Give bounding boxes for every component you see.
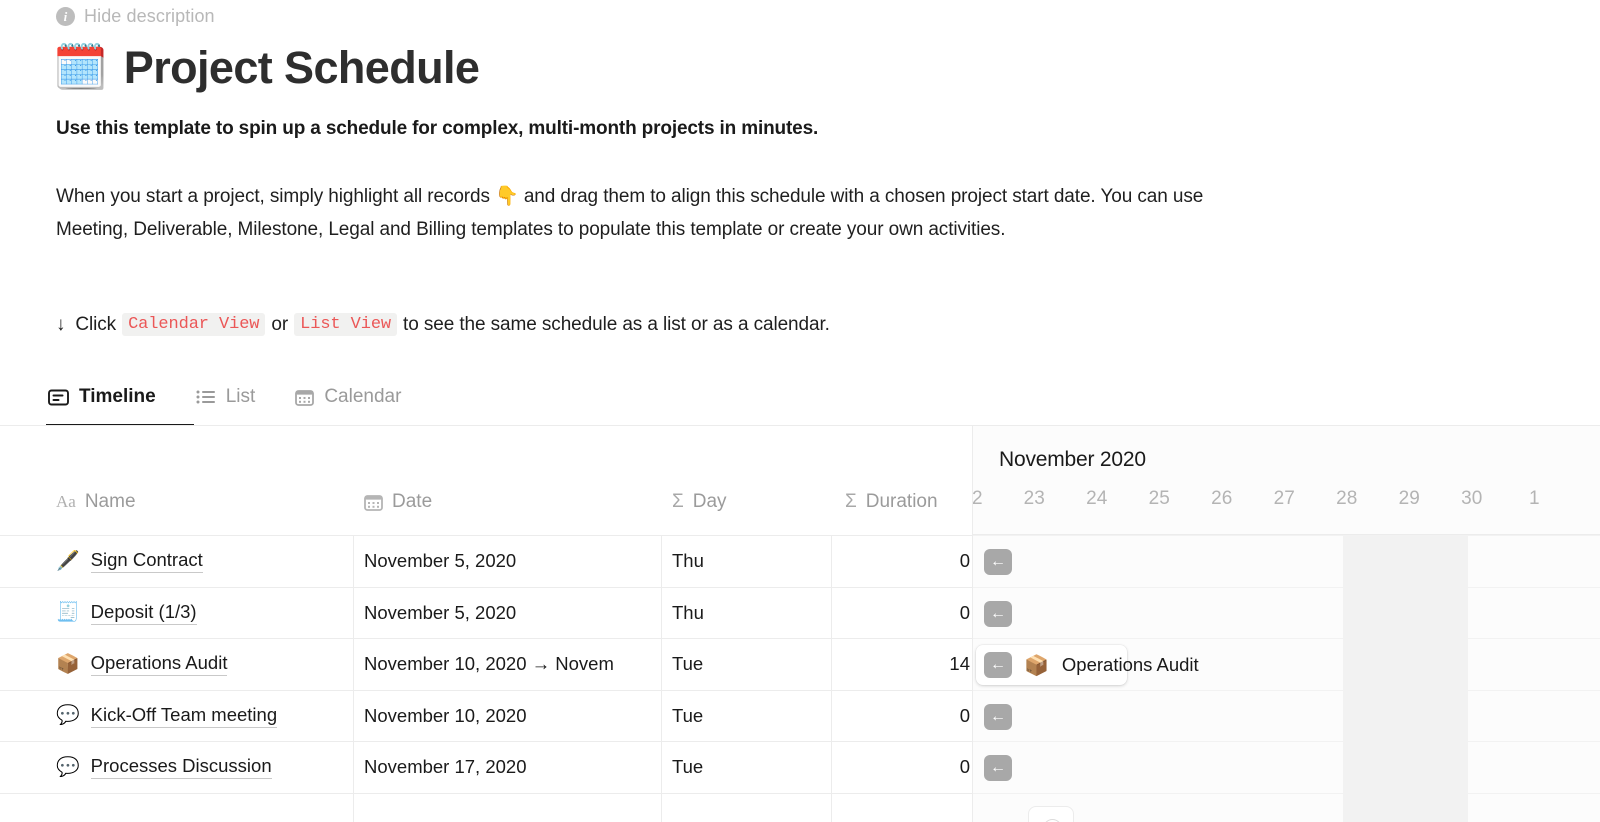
row-duration-cell: 0 [845, 691, 970, 742]
row-name-label: Deposit (1/3) [91, 601, 197, 625]
row-date-cell[interactable]: November 5, 2020 [364, 588, 659, 639]
row-date-label: November 5, 2020 [364, 550, 516, 572]
package-emoji-icon: 📦 [1024, 653, 1049, 678]
row-date-label: November 10, 2020 [364, 705, 527, 727]
row-day-cell: Thu [672, 536, 812, 587]
hide-description-button[interactable]: i Hide description [56, 6, 215, 27]
scroll-to-record-left-icon[interactable]: ← [984, 652, 1012, 678]
row-date-cell[interactable]: November 10, 2020 [364, 691, 659, 742]
list-icon [196, 389, 216, 405]
info-icon: i [56, 7, 75, 26]
timeline-day-tick: 1 [1503, 488, 1566, 510]
row-date-label: November 10, 2020 → Novem [364, 653, 614, 675]
timeline-day-tick: 28 [1316, 488, 1379, 510]
tab-timeline-label: Timeline [79, 386, 156, 408]
click-prefix-label: Click [75, 314, 116, 336]
column-header-name-label: Name [85, 491, 136, 513]
row-duration-label: 0 [960, 550, 970, 572]
timeline-row[interactable]: ← [973, 535, 1600, 587]
table-panel: Aa Name Date [0, 426, 972, 822]
row-day-cell: Tue [672, 742, 812, 793]
timeline-day-tick: 29 [1378, 488, 1441, 510]
timeline-month-label: November 2020 [999, 448, 1146, 472]
column-divider-date-day [661, 535, 662, 822]
column-header-duration-label: Duration [866, 491, 938, 513]
or-label: or [271, 314, 288, 336]
view-tabs: Timeline List [46, 382, 403, 422]
arrow-down-icon: ↓ [56, 314, 65, 336]
row-name-cell[interactable]: 📦 Operations Audit [56, 639, 346, 690]
timeline-row-partial[interactable] [973, 793, 1600, 822]
timeline-day-tick: 30 [1441, 488, 1504, 510]
project-schedule-page: i Hide description 🗓️ Project Schedule U… [0, 0, 1600, 822]
gantt-bar-partial[interactable] [1028, 806, 1074, 822]
tab-calendar-label: Calendar [324, 386, 401, 408]
table-header-row: Aa Name Date [0, 426, 972, 535]
tab-list-label: List [226, 386, 256, 408]
page-description-paragraph: When you start a project, simply highlig… [56, 180, 1266, 246]
sigma-formula-icon: Σ [672, 491, 684, 513]
timeline-day-tick: 26 [1191, 488, 1254, 510]
calendar-icon [364, 494, 383, 511]
timeline-icon [48, 389, 69, 406]
row-day-cell: Thu [672, 588, 812, 639]
row-date-cell[interactable]: November 17, 2020 [364, 742, 659, 793]
tab-list[interactable]: List [194, 382, 258, 422]
scroll-to-record-left-icon[interactable]: ← [984, 755, 1012, 781]
page-title-row: 🗓️ Project Schedule [53, 42, 479, 94]
row-name-label: Kick-Off Team meeting [91, 704, 277, 728]
column-header-date[interactable]: Date [364, 491, 432, 513]
table-row[interactable]: 📦 Operations Audit November 10, 2020 → N… [0, 638, 972, 690]
timeline-row[interactable]: ← [973, 690, 1600, 742]
table-row[interactable]: 🖋️ Sign Contract November 5, 2020 Thu 0 [0, 535, 972, 587]
column-divider-day-duration [831, 535, 832, 822]
row-duration-label: 0 [960, 705, 970, 727]
calendar-icon [295, 389, 314, 406]
row-duration-cell: 0 [845, 742, 970, 793]
row-date-label: November 17, 2020 [364, 756, 527, 778]
row-date-cell[interactable]: November 5, 2020 [364, 536, 659, 587]
speech-balloon-emoji-icon: 💬 [56, 758, 80, 777]
package-emoji-icon: 📦 [56, 655, 80, 674]
column-header-duration[interactable]: Σ Duration [845, 491, 938, 513]
column-header-name[interactable]: Aa Name [56, 491, 136, 513]
aa-text-icon: Aa [56, 492, 76, 512]
scroll-to-record-left-icon[interactable]: ← [984, 704, 1012, 730]
column-header-day-label: Day [693, 491, 727, 513]
row-duration-label: 0 [960, 756, 970, 778]
timeline-panel: November 2020 2 23 24 25 26 27 28 29 30 … [972, 426, 1600, 822]
timeline-day-tick: 24 [1066, 488, 1129, 510]
timeline-day-tick: 25 [1128, 488, 1191, 510]
record-dot-icon [1043, 819, 1062, 822]
list-view-code-chip[interactable]: List View [294, 313, 397, 336]
row-day-label: Thu [672, 550, 704, 572]
scroll-to-record-left-icon[interactable]: ← [984, 601, 1012, 627]
row-day-cell: Tue [672, 691, 812, 742]
row-day-label: Tue [672, 756, 703, 778]
hide-description-label: Hide description [84, 6, 215, 27]
click-suffix-label: to see the same schedule as a list or as… [403, 314, 830, 336]
calendar-view-code-chip[interactable]: Calendar View [122, 313, 265, 336]
row-duration-cell: 0 [845, 536, 970, 587]
column-header-day[interactable]: Σ Day [672, 491, 727, 513]
row-date-label: November 5, 2020 [364, 602, 516, 624]
row-day-label: Thu [672, 602, 704, 624]
gantt-bar-operations-audit[interactable]: ← 📦 Operations Audit [976, 645, 1127, 685]
page-title: Project Schedule [124, 42, 480, 94]
tab-calendar[interactable]: Calendar [293, 382, 403, 422]
row-name-cell[interactable]: 💬 Kick-Off Team meeting [56, 691, 346, 742]
timeline-row[interactable]: ← 📦 Operations Audit [973, 638, 1600, 690]
page-subtitle: Use this template to spin up a schedule … [56, 118, 818, 140]
row-name-cell[interactable]: 🖋️ Sign Contract [56, 536, 346, 587]
row-duration-label: 14 [949, 653, 970, 675]
timeline-day-ticks: 2 23 24 25 26 27 28 29 30 1 [973, 488, 1600, 535]
speech-balloon-emoji-icon: 💬 [56, 706, 80, 725]
view-hint-line: ↓ Click Calendar View or List View to se… [56, 313, 830, 336]
scroll-to-record-left-icon[interactable]: ← [984, 549, 1012, 575]
timeline-row[interactable]: ← [973, 741, 1600, 793]
schedule-grid: Aa Name Date [0, 426, 1600, 822]
table-row[interactable]: 💬 Processes Discussion November 17, 2020… [0, 741, 972, 793]
column-header-date-label: Date [392, 491, 432, 513]
calendar-pad-emoji-icon: 🗓️ [53, 46, 108, 90]
receipt-emoji-icon: 🧾 [56, 603, 80, 622]
timeline-day-tick: 23 [1003, 488, 1066, 510]
timeline-body: ← ← ← 📦 Operations Audit ← ← [973, 535, 1600, 822]
row-day-cell: Tue [672, 639, 812, 690]
row-name-label: Processes Discussion [91, 755, 272, 779]
timeline-row[interactable]: ← [973, 587, 1600, 639]
row-duration-label: 0 [960, 602, 970, 624]
row-name-label: Sign Contract [91, 549, 203, 573]
sigma-formula-icon: Σ [845, 491, 857, 513]
row-date-cell[interactable]: November 10, 2020 → Novem [364, 639, 659, 690]
timeline-day-tick: 27 [1253, 488, 1316, 510]
row-duration-cell: 0 [845, 588, 970, 639]
row-name-label: Operations Audit [91, 652, 228, 676]
row-name-cell[interactable]: 💬 Processes Discussion [56, 742, 346, 793]
pen-emoji-icon: 🖋️ [56, 552, 80, 571]
table-row[interactable]: 💬 Kick-Off Team meeting November 10, 202… [0, 690, 972, 742]
row-duration-cell: 14 [845, 639, 970, 690]
row-name-cell[interactable]: 🧾 Deposit (1/3) [56, 588, 346, 639]
table-row-partial[interactable] [0, 793, 972, 822]
gantt-bar-label: Operations Audit [1062, 654, 1199, 676]
row-day-label: Tue [672, 653, 703, 675]
row-day-label: Tue [672, 705, 703, 727]
table-row[interactable]: 🧾 Deposit (1/3) November 5, 2020 Thu 0 [0, 587, 972, 639]
tab-timeline[interactable]: Timeline [46, 382, 158, 422]
column-divider-name-date [353, 535, 354, 822]
